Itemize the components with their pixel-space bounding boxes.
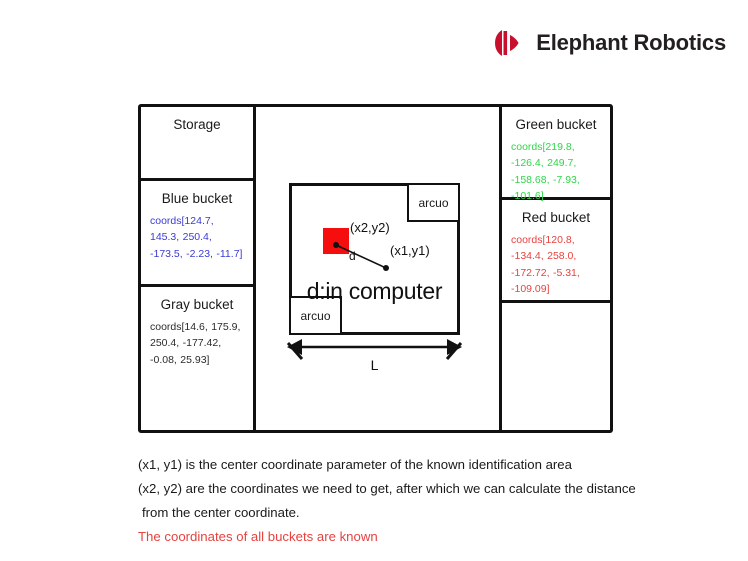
gray-bucket-coords: coords[14.6, 175.9, 250.4, -177.42, -0.0… xyxy=(150,319,244,368)
green-bucket-title: Green bucket xyxy=(511,117,601,133)
dimension-arrow-L: L xyxy=(286,337,463,379)
workspace-area: arcuo arcuo (x2,y2) (x1,y1) d d:in compu… xyxy=(289,183,460,335)
target-object-square xyxy=(323,228,349,254)
point-x1y1-label: (x1,y1) xyxy=(390,243,430,258)
caption-block: (x1, y1) is the center coordinate parame… xyxy=(138,455,718,552)
cell-storage: Storage xyxy=(141,107,253,181)
point-x1y1-dot xyxy=(383,265,389,271)
storage-title: Storage xyxy=(150,117,244,133)
arcuo-label-top-right: arcuo xyxy=(418,196,448,210)
arcuo-marker-top-right: arcuo xyxy=(407,183,460,222)
dimension-label-L: L xyxy=(286,357,463,373)
distance-label: d xyxy=(349,249,356,263)
blue-bucket-title: Blue bucket xyxy=(150,191,244,207)
cell-red-bucket: Red bucket coords[120.8, -134.4, 258.0, … xyxy=(502,200,610,303)
caption-line-2: (x2, y2) are the coordinates we need to … xyxy=(138,479,718,498)
cell-gray-bucket: Gray bucket coords[14.6, 175.9, 250.4, -… xyxy=(141,287,253,430)
diagram-frame: Storage Blue bucket coords[124.7, 145.3,… xyxy=(138,104,613,433)
left-column: Storage Blue bucket coords[124.7, 145.3,… xyxy=(141,107,256,430)
elephant-robotics-logo-icon xyxy=(491,26,525,60)
green-bucket-coords: coords[219.8, -126.4, 249.7, -158.68, -7… xyxy=(511,139,601,204)
red-bucket-coords: coords[120.8, -134.4, 258.0, -172.72, -5… xyxy=(511,232,601,297)
caption-line-1: (x1, y1) is the center coordinate parame… xyxy=(138,455,718,474)
cell-empty xyxy=(502,303,610,430)
blue-bucket-coords: coords[124.7, 145.3, 250.4, -173.5, -2.2… xyxy=(150,213,244,262)
gray-bucket-title: Gray bucket xyxy=(150,297,244,313)
right-column: Green bucket coords[219.8, -126.4, 249.7… xyxy=(502,107,610,430)
red-bucket-title: Red bucket xyxy=(511,210,601,226)
cell-blue-bucket: Blue bucket coords[124.7, 145.3, 250.4, … xyxy=(141,181,253,287)
computer-vision-label: d:in computer xyxy=(292,278,457,305)
brand-header: Elephant Robotics xyxy=(491,26,726,60)
point-x2y2-label: (x2,y2) xyxy=(350,220,390,235)
arcuo-label-bottom-left: arcuo xyxy=(300,309,330,323)
center-column: arcuo arcuo (x2,y2) (x1,y1) d d:in compu… xyxy=(256,107,502,430)
brand-name: Elephant Robotics xyxy=(536,30,726,56)
point-x2y2-dot xyxy=(333,242,339,248)
cell-green-bucket: Green bucket coords[219.8, -126.4, 249.7… xyxy=(502,107,610,200)
caption-line-3: from the center coordinate. xyxy=(138,503,718,522)
caption-line-4-highlight: The coordinates of all buckets are known xyxy=(138,527,718,546)
